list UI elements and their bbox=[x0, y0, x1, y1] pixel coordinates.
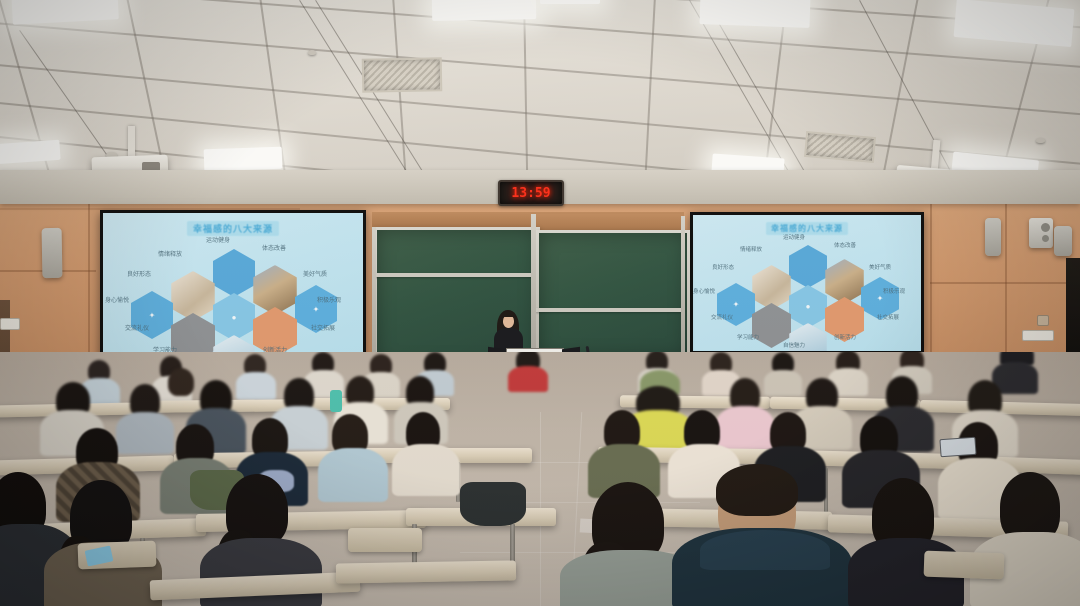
hex-top bbox=[213, 249, 255, 297]
ceiling-light-panel bbox=[699, 0, 810, 28]
label-04: 美好气质 bbox=[303, 269, 327, 278]
seating-area bbox=[0, 352, 1080, 606]
projection-screen-left: 幸福感的八大来源 ● ✦ ✦ 运动健身 体态改善 情绪释放 美好气质 良好形态 bbox=[100, 210, 366, 366]
label-07: 积极乐观 bbox=[883, 287, 905, 295]
hex-left-icon: ✦ bbox=[733, 300, 740, 309]
center-icon: ● bbox=[806, 302, 811, 311]
presenter-hair-front bbox=[502, 311, 515, 317]
slide-title: 幸福感的八大来源 bbox=[187, 221, 279, 236]
label-09: 交流礼仪 bbox=[711, 313, 733, 321]
lecture-hall-photo: 13:59 幸福感的八大来源 ● ✦ ✦ bbox=[0, 0, 1080, 606]
label-08: 社交拓展 bbox=[311, 323, 335, 332]
ceiling-light-panel bbox=[540, 0, 600, 4]
clock-time: 13:59 bbox=[511, 186, 550, 201]
chalkboard-divider bbox=[536, 308, 684, 312]
wall-speaker bbox=[1029, 218, 1053, 248]
label-07: 积极乐观 bbox=[317, 295, 341, 304]
smoke-detector-icon bbox=[1036, 138, 1045, 143]
label-02: 体态改善 bbox=[834, 241, 856, 249]
student-body bbox=[716, 406, 774, 450]
label-03: 情绪释放 bbox=[740, 245, 762, 253]
label-04: 美好气质 bbox=[869, 263, 891, 271]
center-icon: ● bbox=[232, 313, 237, 322]
chair-back bbox=[924, 551, 1005, 580]
ceiling-light-panel bbox=[204, 147, 283, 172]
label-06: 身心愉悦 bbox=[693, 287, 715, 295]
label-01: 运动健身 bbox=[783, 233, 805, 241]
slide-content-right: 幸福感的八大来源 ● ✦ ✦ 运动健身 体态改善 情绪释放 美好气质 良好形态 … bbox=[693, 215, 921, 351]
student-body bbox=[236, 372, 276, 400]
air-vent bbox=[362, 57, 443, 92]
ceiling-light-panel bbox=[954, 0, 1075, 47]
hex-right-icon: ✦ bbox=[877, 294, 884, 303]
student-hair bbox=[716, 464, 798, 516]
digital-clock: 13:59 bbox=[498, 180, 564, 206]
light-switch[interactable] bbox=[1037, 315, 1049, 326]
label-02: 体态改善 bbox=[262, 243, 286, 252]
ceiling-light-panel bbox=[0, 140, 61, 165]
air-vent bbox=[804, 131, 876, 163]
tablet-device[interactable] bbox=[939, 437, 976, 457]
label-10: 创新活力 bbox=[834, 333, 856, 341]
label-08: 社交拓展 bbox=[877, 313, 899, 321]
hex-top bbox=[789, 245, 827, 288]
student-body bbox=[318, 448, 388, 502]
chalkboard-rail bbox=[681, 216, 685, 358]
label-12: 自信魅力 bbox=[783, 341, 805, 349]
chalkboard-divider bbox=[374, 273, 534, 277]
label-05: 良好形态 bbox=[127, 269, 151, 278]
hex-left-icon: ✦ bbox=[149, 311, 156, 320]
wall-speaker bbox=[1054, 226, 1072, 256]
hex-center: ● bbox=[213, 293, 255, 341]
smoke-detector-icon bbox=[308, 50, 316, 55]
student-head bbox=[168, 368, 194, 396]
ceiling-light-panel bbox=[11, 0, 119, 25]
label-01: 运动健身 bbox=[206, 235, 230, 244]
projection-screen-right: 幸福感的八大来源 ● ✦ ✦ 运动健身 体态改善 情绪释放 美好气质 良好形态 … bbox=[690, 212, 924, 354]
student-body bbox=[764, 370, 802, 396]
hex-right-icon: ✦ bbox=[313, 305, 320, 314]
wall-speaker bbox=[42, 228, 63, 278]
desk bbox=[336, 560, 516, 583]
label-11: 学习能力 bbox=[737, 333, 759, 341]
label-09: 交流礼仪 bbox=[125, 323, 149, 332]
chalkboard-rail bbox=[372, 227, 376, 363]
label-05: 良好形态 bbox=[712, 263, 734, 271]
slide-title-right: 幸福感的八大来源 bbox=[766, 222, 848, 235]
label-06: 身心愉悦 bbox=[105, 295, 129, 304]
water-bottle[interactable] bbox=[330, 390, 342, 412]
ceiling-light-panel bbox=[432, 0, 536, 21]
wall-speaker bbox=[985, 218, 1001, 256]
student-body bbox=[508, 366, 548, 392]
chair-back bbox=[348, 528, 422, 552]
wall-plate bbox=[0, 318, 20, 330]
hood bbox=[700, 530, 830, 570]
student-body bbox=[116, 412, 174, 454]
student-body bbox=[392, 444, 460, 496]
slide-content-left: 幸福感的八大来源 ● ✦ ✦ 运动健身 体态改善 情绪释放 美好气质 良好形态 bbox=[103, 213, 363, 363]
backpack[interactable] bbox=[460, 482, 526, 526]
wall-plate bbox=[1022, 330, 1054, 341]
hex-center: ● bbox=[789, 285, 827, 328]
doorway bbox=[1066, 258, 1080, 366]
label-03: 情绪释放 bbox=[158, 249, 182, 258]
